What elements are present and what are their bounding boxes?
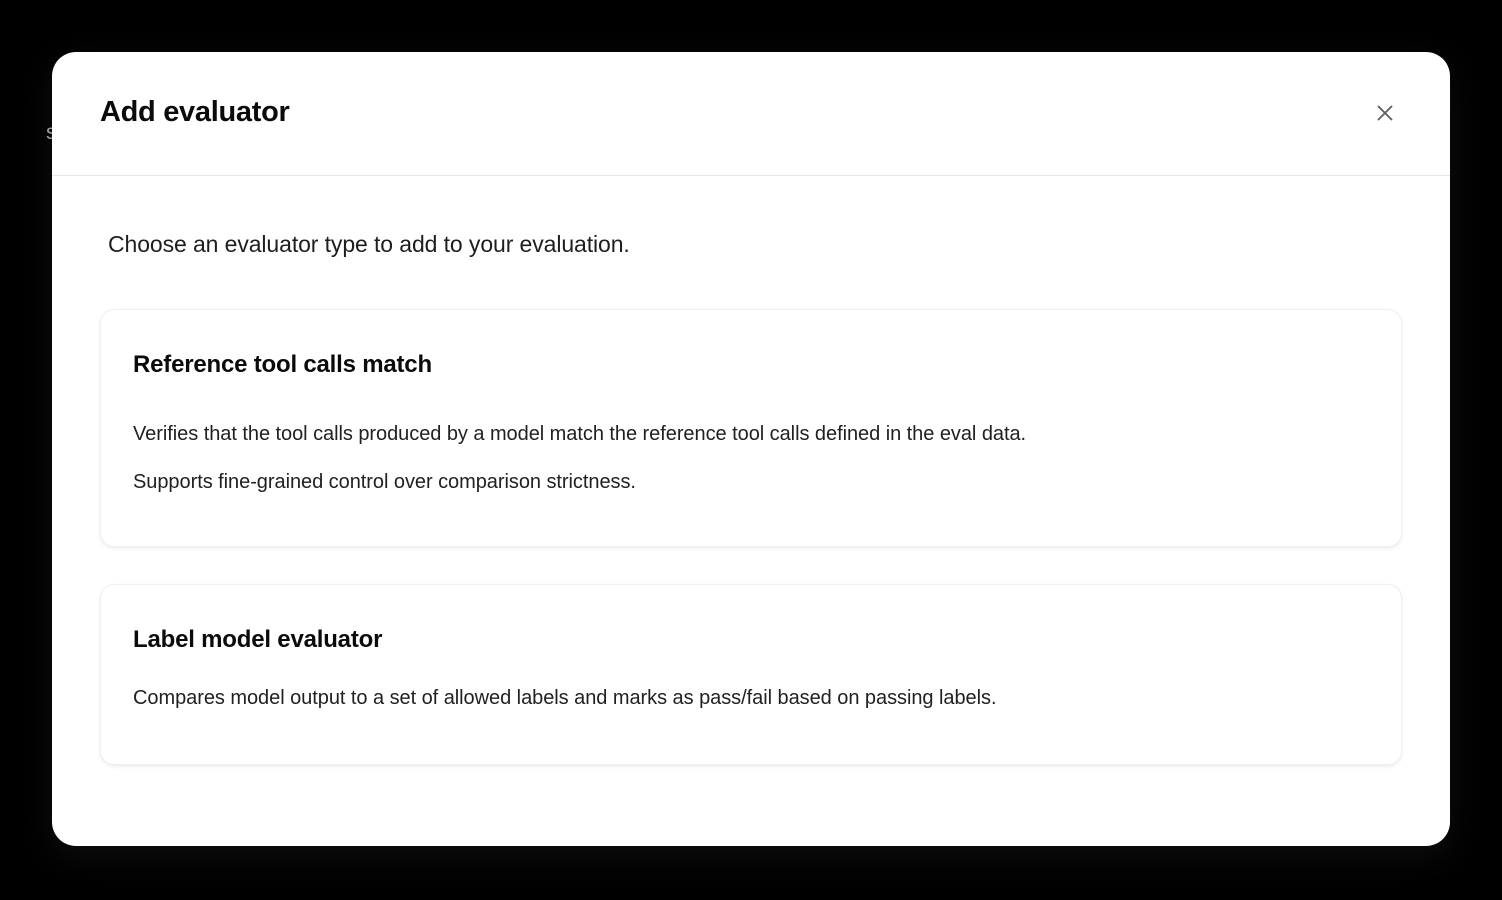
modal-header: Add evaluator bbox=[52, 52, 1450, 176]
intro-text: Choose an evaluator type to add to your … bbox=[108, 230, 1402, 258]
evaluator-card-description-line: Supports fine-grained control over compa… bbox=[133, 458, 1323, 506]
page-title: Add evaluator bbox=[100, 96, 289, 129]
evaluator-card-description-line: Compares model output to a set of allowe… bbox=[133, 685, 1323, 711]
evaluator-card-description: Verifies that the tool calls produced by… bbox=[133, 410, 1323, 506]
evaluator-card-label-model-evaluator[interactable]: Label model evaluator Compares model out… bbox=[100, 584, 1402, 765]
close-icon bbox=[1374, 102, 1396, 124]
close-button[interactable] bbox=[1368, 96, 1402, 130]
evaluator-card-reference-tool-calls-match[interactable]: Reference tool calls match Verifies that… bbox=[100, 309, 1402, 547]
evaluator-card-description-line: Verifies that the tool calls produced by… bbox=[133, 410, 1323, 458]
evaluator-type-list: Reference tool calls match Verifies that… bbox=[100, 309, 1402, 765]
evaluator-card-description: Compares model output to a set of allowe… bbox=[133, 685, 1323, 711]
add-evaluator-modal: Add evaluator Choose an evaluator type t… bbox=[52, 52, 1450, 846]
evaluator-card-title: Reference tool calls match bbox=[133, 350, 1369, 380]
evaluator-card-title: Label model evaluator bbox=[133, 625, 1369, 655]
modal-body: Choose an evaluator type to add to your … bbox=[52, 230, 1450, 765]
